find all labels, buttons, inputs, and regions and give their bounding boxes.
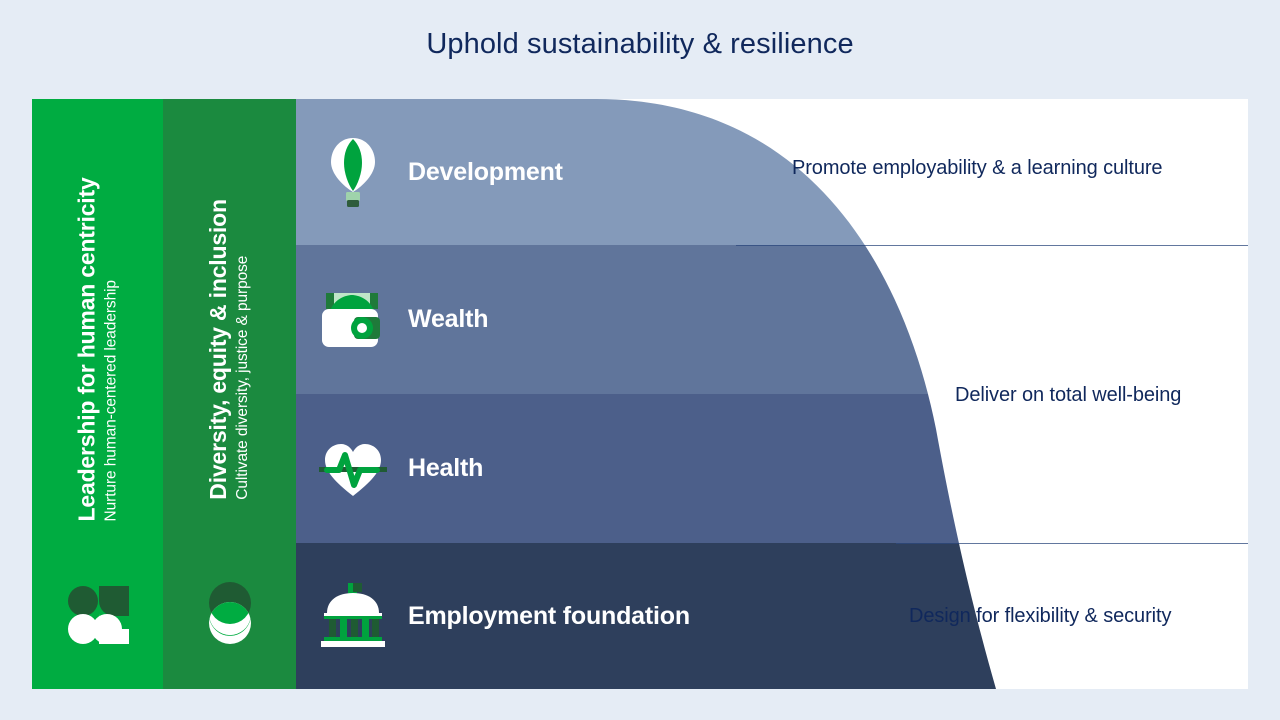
pillar-leadership-subtitle: Nurture human-centered leadership	[102, 280, 121, 521]
row-development-label: Development	[408, 158, 563, 187]
pillar-dei-subtitle: Cultivate diversity, justice & purpose	[234, 255, 253, 499]
pillar-dei-title: Diversity, equity & inclusion	[206, 199, 231, 500]
row-employment-label: Employment foundation	[408, 602, 690, 631]
row-health-label: Health	[408, 454, 483, 483]
heart-pulse-icon	[314, 438, 392, 500]
row-wealth[interactable]: Wealth	[296, 245, 1248, 394]
desc-wellbeing: Deliver on total well-being	[955, 384, 1181, 407]
page-title: Uphold sustainability & resilience	[0, 28, 1280, 61]
desc-flexibility: Design for flexibility & security	[909, 605, 1171, 628]
hot-air-balloon-icon	[314, 136, 392, 208]
row-wealth-label: Wealth	[408, 305, 488, 334]
pillar-dei-text: Diversity, equity & inclusion Cultivate …	[163, 99, 296, 599]
pillar-leadership-text: Leadership for human centricity Nurture …	[32, 99, 163, 599]
four-circles-logo-icon	[32, 586, 163, 644]
row-health[interactable]: Health	[296, 394, 1248, 543]
pillar-leadership-title: Leadership for human centricity	[74, 177, 99, 521]
pillar-dei: Diversity, equity & inclusion Cultivate …	[163, 99, 296, 689]
desc-development: Promote employability & a learning cultu…	[792, 157, 1162, 180]
pillar-leadership: Leadership for human centricity Nurture …	[32, 99, 163, 689]
wallet-money-icon	[314, 289, 392, 351]
two-circles-logo-icon	[163, 582, 296, 644]
government-building-icon	[314, 583, 392, 649]
content-area: Development Wealth	[296, 99, 1248, 689]
diagram-container: Leadership for human centricity Nurture …	[32, 99, 1248, 689]
